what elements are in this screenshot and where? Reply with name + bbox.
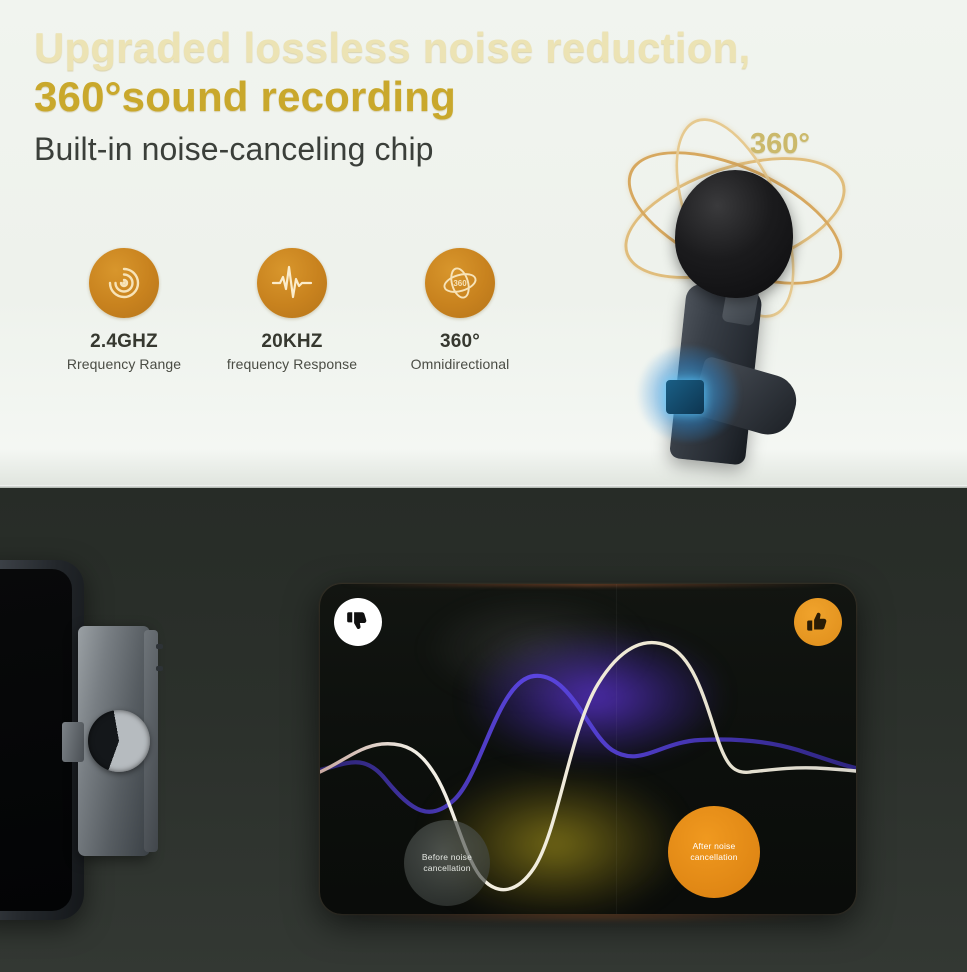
microphone-windscreen <box>675 170 793 298</box>
feature-subtitle: Omnidirectional <box>376 356 544 372</box>
thumbs-down-icon <box>345 609 371 635</box>
receiver-port-1 <box>156 644 163 649</box>
waveform-chart <box>320 584 856 914</box>
frequency-range-badge <box>89 248 159 318</box>
noise-canceling-chip <box>666 380 704 414</box>
frequency-response-icon <box>269 261 315 305</box>
receiver-port-2 <box>156 666 163 671</box>
microphone-illustration: 360° <box>600 118 950 548</box>
feature-spec-list: 2.4GHZ Rrequency Range 20KHZ frequency R… <box>40 248 544 372</box>
noise-cancellation-chart-card: Before noise cancellation After noise ca… <box>320 584 856 914</box>
feature-omnidirectional: 360 360° Omnidirectional <box>376 248 544 372</box>
feature-frequency-range: 2.4GHZ Rrequency Range <box>40 248 208 372</box>
omnidirectional-badge: 360 <box>425 248 495 318</box>
thumbs-down-badge <box>334 598 382 646</box>
thumbs-up-icon <box>805 609 831 635</box>
headline-line-1: Upgraded lossless noise reduction, <box>34 24 884 73</box>
svg-text:360: 360 <box>453 279 467 288</box>
receiver-plug <box>62 722 84 762</box>
feature-frequency-response: 20KHZ frequency Response <box>208 248 376 372</box>
product-banner: Upgraded lossless noise reduction, 360°s… <box>0 0 967 972</box>
feature-subtitle: frequency Response <box>208 356 376 372</box>
receiver-dial <box>88 710 150 772</box>
omnidirectional-icon: 360 <box>437 261 483 305</box>
wave-line-white <box>320 643 856 890</box>
top-feature-panel: Upgraded lossless noise reduction, 360°s… <box>0 0 967 488</box>
phone-with-receiver <box>0 560 206 940</box>
caption-after-noise-cancellation: After noise cancellation <box>668 806 760 898</box>
feature-subtitle: Rrequency Range <box>40 356 208 372</box>
headline-line-2: 360°sound recording <box>34 73 884 122</box>
feature-title: 20KHZ <box>208 332 376 353</box>
frequency-response-badge <box>257 248 327 318</box>
feature-title: 360° <box>376 332 544 353</box>
thumbs-up-badge <box>794 598 842 646</box>
frequency-range-icon <box>102 261 146 305</box>
caption-before-noise-cancellation: Before noise cancellation <box>404 820 490 906</box>
feature-title: 2.4GHZ <box>40 332 208 353</box>
